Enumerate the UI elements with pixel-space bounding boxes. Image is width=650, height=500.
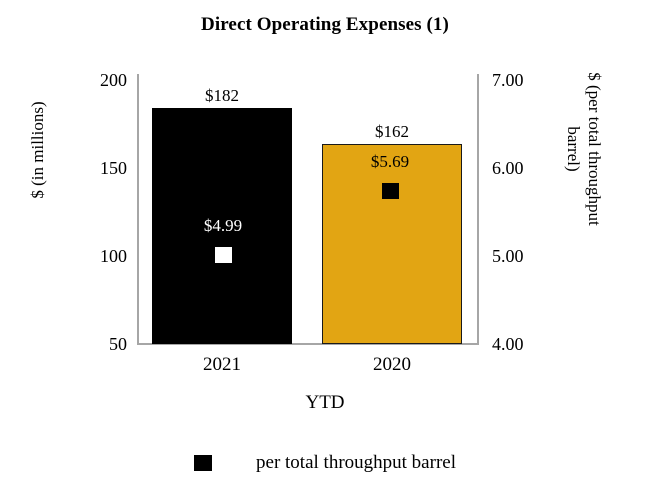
left-axis-tick-200: 200 (71, 71, 127, 89)
right-axis-title-line1: $ (per total throughput (584, 69, 605, 229)
left-axis-title: $ (in millions) (28, 70, 48, 230)
bar-2020[interactable] (322, 144, 462, 344)
right-axis-tick-600: 6.00 (492, 159, 552, 177)
legend-item-per-barrel[interactable]: per total throughput barrel (194, 452, 456, 474)
right-axis-title: $ (per total throughput barrel) (563, 69, 605, 229)
bar-value-label-2021: $182 (142, 86, 302, 106)
legend-square-icon (194, 455, 212, 471)
right-axis-tick-700: 7.00 (492, 71, 552, 89)
marker-value-label-2021: $4.99 (143, 216, 303, 236)
left-axis-tick-50: 50 (71, 335, 127, 353)
legend: per total throughput barrel (0, 452, 650, 474)
chart-container: Direct Operating Expenses (1) 200 150 10… (0, 0, 650, 500)
legend-item-label: per total throughput barrel (256, 452, 456, 474)
marker-value-label-2020: $5.69 (310, 152, 470, 172)
left-axis-line (137, 74, 139, 345)
x-axis-title: YTD (0, 392, 650, 414)
right-axis-tick-400: 4.00 (492, 335, 552, 353)
left-axis-tick-150: 150 (71, 159, 127, 177)
bar-value-label-2020: $162 (312, 122, 472, 142)
right-axis-title-line2: barrel) (563, 69, 584, 229)
chart-title: Direct Operating Expenses (1) (0, 14, 650, 36)
marker-square-2021[interactable] (215, 247, 232, 263)
category-label-2021: 2021 (142, 354, 302, 376)
category-label-2020: 2020 (312, 354, 472, 376)
right-axis-line (477, 74, 479, 345)
marker-square-2020[interactable] (382, 183, 399, 199)
right-axis-tick-500: 5.00 (492, 247, 552, 265)
left-axis-tick-100: 100 (71, 247, 127, 265)
